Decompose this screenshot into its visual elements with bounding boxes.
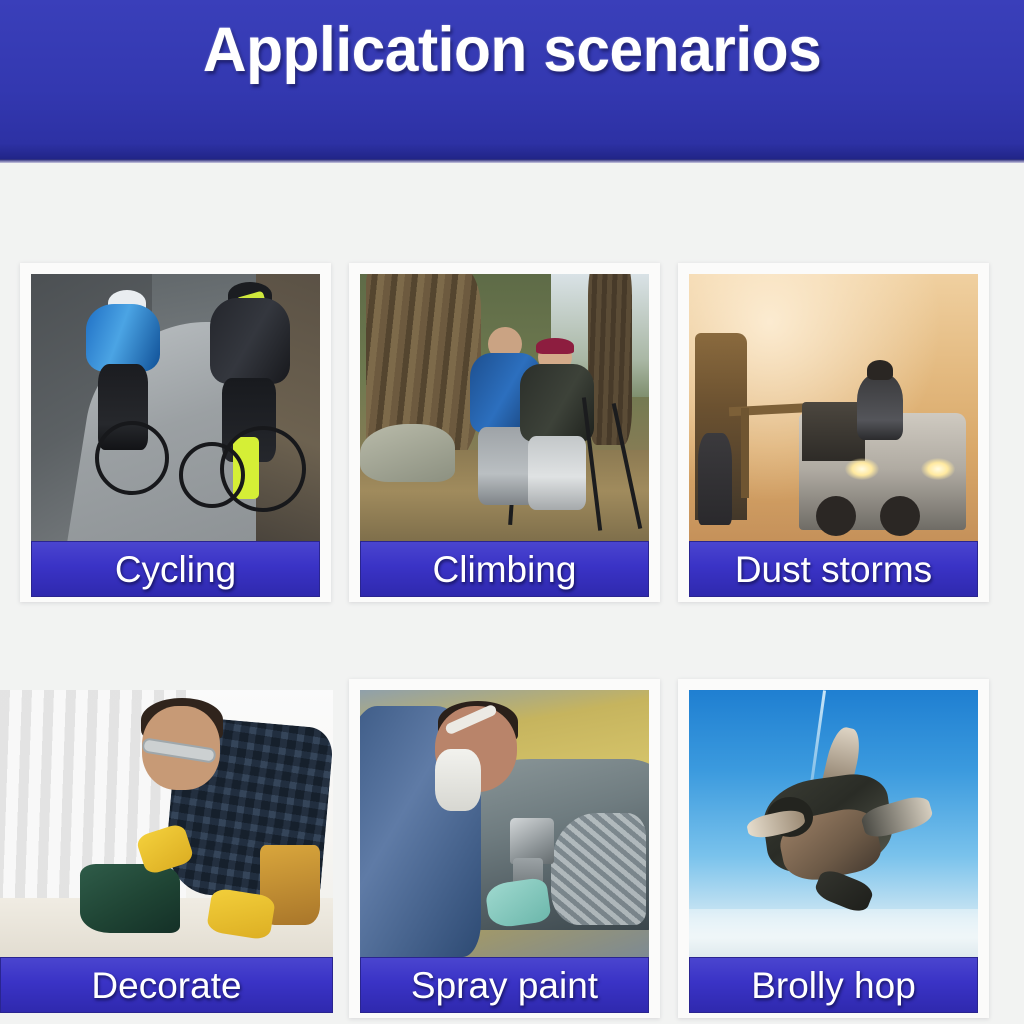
bandana [536, 338, 574, 354]
masked-wheel-well [551, 813, 646, 925]
card-label-text: Cycling [115, 551, 236, 588]
scenario-card-dust-storms[interactable]: Dust storms [678, 263, 989, 602]
decorate-photo [0, 690, 333, 957]
page-title: Application scenarios [203, 14, 821, 86]
card-label-text: Climbing [433, 551, 577, 588]
dust-storms-photo [689, 274, 978, 541]
headlight [845, 458, 879, 480]
respirator-mask [435, 749, 481, 811]
cyclist-black [202, 282, 294, 432]
card-label-brolly-hop: Brolly hop [689, 957, 978, 1013]
jersey [86, 304, 160, 372]
rig-leg [741, 408, 749, 499]
worker-silhouette [698, 433, 732, 525]
scenario-card-cycling[interactable]: Cycling [20, 263, 331, 602]
spray-paint-photo [360, 690, 649, 957]
truck-cab [802, 402, 866, 461]
card-label-text: Spray paint [411, 967, 598, 1004]
truck-tire [880, 496, 920, 536]
bicycle-wheel [220, 426, 306, 512]
brolly-hop-photo [689, 690, 978, 957]
cycling-photo [31, 274, 320, 541]
scenario-card-brolly-hop[interactable]: Brolly hop [678, 679, 989, 1018]
truck-tire [816, 496, 856, 536]
card-label-dust-storms: Dust storms [689, 541, 978, 597]
rock [360, 424, 455, 483]
circular-saw [80, 864, 180, 933]
scenario-card-climbing[interactable]: Climbing [349, 263, 660, 602]
scenario-card-decorate[interactable]: Decorate [0, 679, 333, 1018]
card-label-spray-paint: Spray paint [360, 957, 649, 1013]
card-label-text: Brolly hop [751, 967, 916, 1004]
jersey [210, 298, 290, 384]
card-label-text: Dust storms [735, 551, 932, 588]
pants [528, 436, 586, 510]
card-label-text: Decorate [91, 967, 241, 1004]
scenario-grid: Cycling Climbing [0, 163, 1024, 1024]
horizon-cloud-layer [689, 909, 978, 957]
headlight [921, 458, 955, 480]
cyclist-blue [86, 290, 166, 410]
header-banner: Application scenarios [0, 0, 1024, 163]
card-label-climbing: Climbing [360, 541, 649, 597]
card-label-decorate: Decorate [0, 957, 333, 1013]
climbing-photo [360, 274, 649, 541]
bicycle-wheel [95, 421, 169, 495]
card-label-cycling: Cycling [31, 541, 320, 597]
driver [857, 374, 903, 440]
scenario-card-spray-paint[interactable]: Spray paint [349, 679, 660, 1018]
